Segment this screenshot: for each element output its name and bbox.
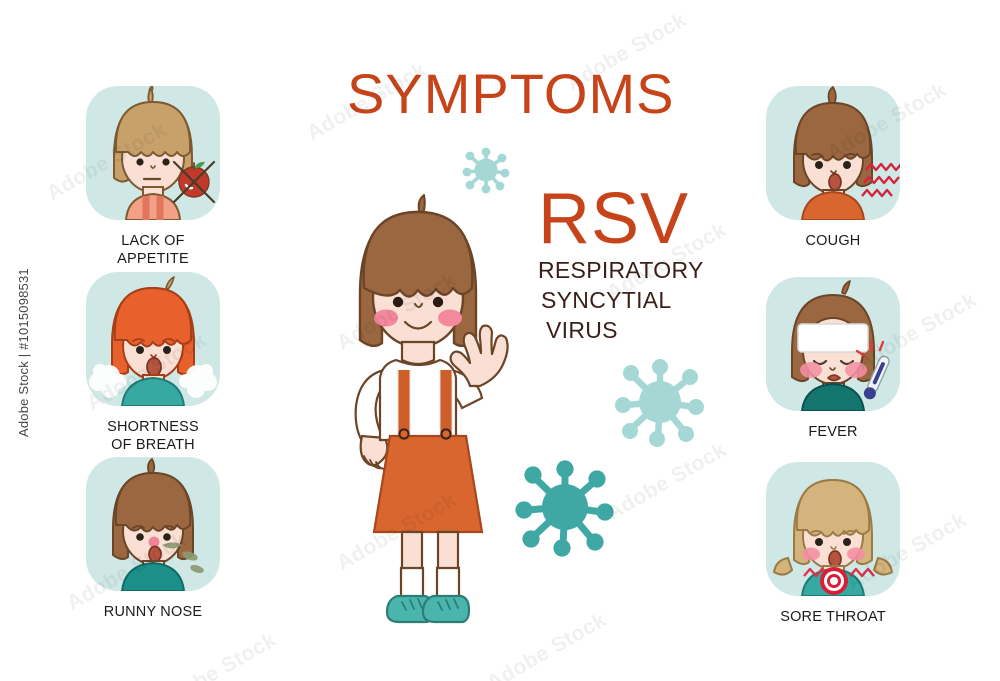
symptom-label-line-1: SORE THROAT [766, 608, 900, 626]
symptom-card-runny-nose[interactable]: RUNNY NOSE [86, 457, 220, 621]
child-sore-throat-icon [766, 462, 900, 596]
symptom-card-cough[interactable]: COUGH [766, 86, 900, 250]
symptom-panel [766, 86, 900, 220]
symptom-label-line-1: FEVER [766, 423, 900, 441]
stock-id-watermark: Adobe Stock | #1015098531 [16, 268, 31, 437]
rsv-full-name: RESPIRATORY SYNCYTIAL VIRUS [538, 256, 704, 346]
infographic-canvas: SYMPTOMS RSV RESPIRATORY SYNCYTIAL VIRUS [0, 0, 1000, 681]
symptom-label-line-2: OF BREATH [86, 436, 220, 454]
symptom-card-fever[interactable]: FEVER [766, 277, 900, 441]
symptom-panel [766, 277, 900, 411]
symptom-label-line-1: LACK OF APPETITE [86, 232, 220, 268]
page-title: SYMPTOMS [347, 66, 674, 122]
symptom-card-sore-throat[interactable]: SORE THROAT [766, 462, 900, 626]
symptom-card-lack-of-appetite[interactable]: LACK OF APPETITE [86, 86, 220, 268]
watermark-tile: Adobe Stock [153, 628, 281, 681]
symptom-label: SHORTNESS OF BREATH [86, 418, 220, 454]
virus-particle-small [458, 142, 514, 198]
child-fever-thermometer-icon [766, 277, 900, 411]
symptom-label-line-1: COUGH [766, 232, 900, 250]
symptom-label-line-1: SHORTNESS [86, 418, 220, 436]
rsv-full-line-3: VIRUS [538, 316, 704, 346]
symptom-label: COUGH [766, 232, 900, 250]
girl-waving-illustration [298, 190, 558, 630]
symptom-panel [86, 272, 220, 406]
child-breathing-hard-icon [86, 272, 220, 406]
symptom-panel [86, 457, 220, 591]
center-character-illustration [298, 190, 558, 630]
child-refusing-apple-icon [86, 86, 220, 220]
virus-particle-medium [610, 352, 710, 452]
virus-particle-large [510, 452, 620, 562]
rsv-full-line-2: SYNCYTIAL [538, 286, 704, 316]
child-coughing-icon [766, 86, 900, 220]
symptom-panel [86, 86, 220, 220]
rsv-title-block: RSV RESPIRATORY SYNCYTIAL VIRUS [538, 186, 704, 346]
symptom-label: SORE THROAT [766, 608, 900, 626]
symptom-label: RUNNY NOSE [86, 603, 220, 621]
rsv-abbreviation: RSV [538, 186, 704, 252]
symptom-card-shortness-of-breath[interactable]: SHORTNESS OF BREATH [86, 272, 220, 454]
symptom-panel [766, 462, 900, 596]
symptom-label: FEVER [766, 423, 900, 441]
symptom-label: LACK OF APPETITE [86, 232, 220, 268]
rsv-full-line-1: RESPIRATORY [538, 256, 704, 286]
child-runny-nose-icon [86, 457, 220, 591]
symptom-label-line-1: RUNNY NOSE [86, 603, 220, 621]
